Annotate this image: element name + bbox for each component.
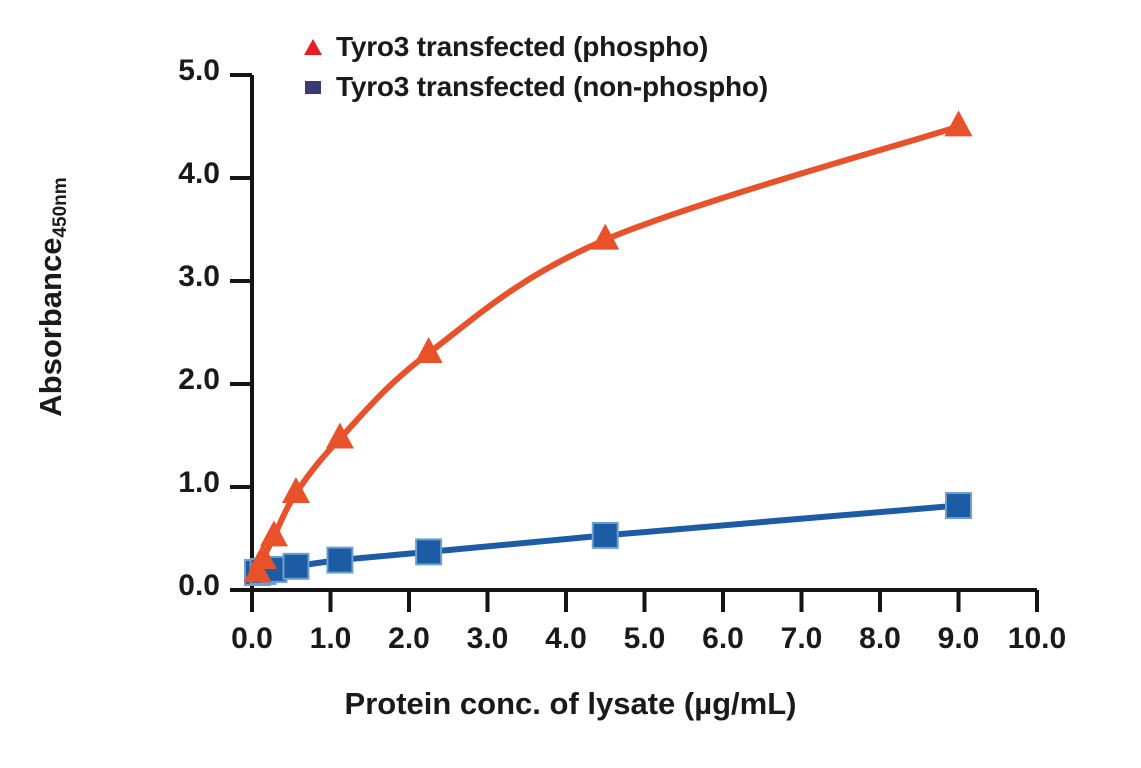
- square-marker-icon: [302, 76, 324, 98]
- data-series-group: [243, 110, 972, 585]
- legend-item-non-phospho[interactable]: Tyro3 transfected (non-phospho): [302, 70, 768, 104]
- y-axis-title-subscript: 450nm: [50, 177, 72, 237]
- data-point-square: [946, 493, 971, 518]
- triangle-marker-icon: [302, 36, 324, 58]
- data-point-triangle: [945, 110, 973, 136]
- data-point-triangle: [415, 337, 443, 363]
- y-tick-label: 4.0: [120, 157, 220, 191]
- series-non-phospho: [245, 493, 971, 585]
- data-point-square: [416, 539, 441, 564]
- x-axis-title: Protein conc. of lysate (µg/mL): [0, 686, 1141, 722]
- chart-legend: Tyro3 transfected (phospho) Tyro3 transf…: [302, 30, 768, 104]
- legend-item-phospho[interactable]: Tyro3 transfected (phospho): [302, 30, 768, 64]
- data-point-square: [327, 548, 352, 573]
- data-point-square: [593, 523, 618, 548]
- data-point-triangle: [260, 520, 288, 546]
- y-axis-title-wrap: Absorbance450nm: [33, 77, 73, 517]
- legend-label-phospho: Tyro3 transfected (phospho): [336, 31, 708, 63]
- legend-label-non-phospho: Tyro3 transfected (non-phospho): [336, 71, 768, 103]
- x-tick-label: 10.0: [977, 622, 1097, 656]
- data-point-square: [283, 554, 308, 579]
- y-tick-label: 3.0: [120, 260, 220, 294]
- y-tick-label: 5.0: [120, 54, 220, 88]
- y-tick-label: 2.0: [120, 363, 220, 397]
- y-tick-label: 0.0: [120, 569, 220, 603]
- y-axis-title: Absorbance: [33, 238, 69, 417]
- y-tick-label: 1.0: [120, 466, 220, 500]
- chart-figure: Tyro3 transfected (phospho) Tyro3 transf…: [0, 0, 1141, 768]
